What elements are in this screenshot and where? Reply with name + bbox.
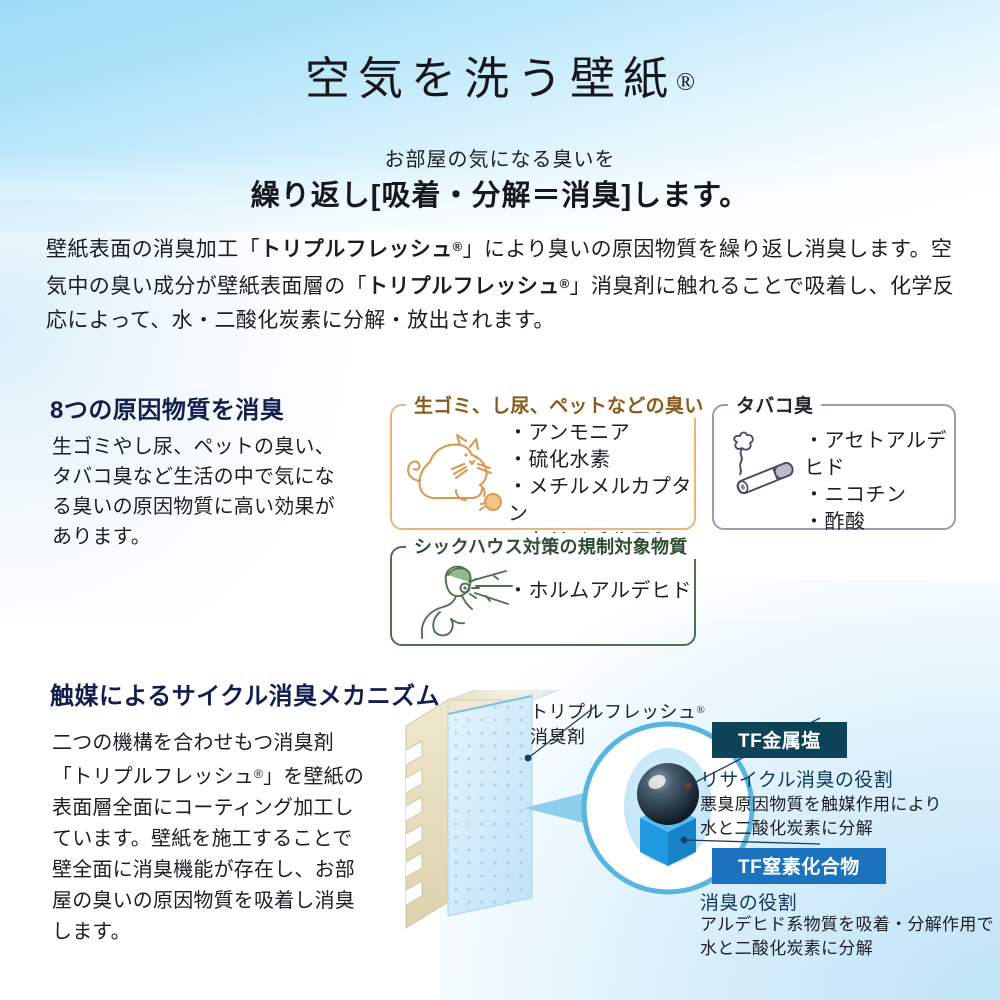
odor-box-sickhouse: シックハウス対策の規制対象物質 ・ホルムアルデヒド: [390, 546, 696, 646]
odor-section-body: 生ゴミやし尿、ペットの臭い、タバコ臭など生活の中で気になる臭いの原因物質に高い効…: [52, 432, 352, 552]
odor-box-waste-legend: 生ゴミ、し尿、ペットなどの臭い: [406, 391, 712, 418]
cigarette-icon: [724, 426, 806, 500]
subtitle-line-1: お部屋の気になる臭いを: [0, 143, 1000, 172]
callout-nitrogen-body: アルデヒド系物質を吸着・分解作用で 水と二酸化炭素に分解: [700, 913, 994, 961]
diagram-label-triplefresh: トリプルフレッシュ® 消臭剤: [530, 698, 705, 750]
infographic-page: 空気を洗う壁紙® お部屋の気になる臭いを 繰り返し[吸着・分解＝消臭]します。 …: [0, 0, 1000, 1000]
callout-metal-body: 悪臭原因物質を触媒作用により 水と二酸化炭素に分解: [700, 793, 942, 841]
callout-metal-body-line1: 悪臭原因物質を触媒作用により: [700, 793, 942, 817]
mechanism-section-body: 二つの機構を合わせもつ消臭剤「トリプルフレッシュ®」を壁紙の表面層全面にコーティ…: [52, 728, 370, 948]
registered-mark: ®: [676, 69, 695, 96]
callout-metal-body-line2: 水と二酸化炭素に分解: [700, 817, 942, 841]
subtitle-line-2: 繰り返し[吸着・分解＝消臭]します。: [0, 172, 1000, 214]
odor-box-tobacco-list: ・アセトアルデヒド ・ニコチン ・酢酸: [804, 428, 954, 536]
odor-box-waste: 生ゴミ、し尿、ペットなどの臭い ・アンモニア: [390, 404, 696, 530]
coughing-person-icon: [410, 562, 520, 640]
callout-nitrogen-body-line1: アルデヒド系物質を吸着・分解作用で: [700, 913, 994, 937]
list-item: ・硫化水素: [508, 447, 694, 474]
mechanism-text-2: 」を壁紙の表面層全面にコーティング加工しています。壁紙を施工することで壁全面に消…: [52, 766, 364, 943]
list-item: ・メチルメルカプタン: [508, 474, 694, 528]
badge-tf-metal-salt: TF金属塩: [712, 722, 847, 758]
diagram-label-registered-mark: ®: [697, 704, 706, 716]
intro-text-1: 壁紙表面の消臭加工「: [46, 238, 260, 261]
list-item: ・酢酸: [804, 509, 954, 536]
list-item: ・アンモニア: [508, 420, 694, 447]
page-title-text: 空気を洗う壁紙: [305, 54, 676, 104]
brand-registered-mark-2: ®: [560, 276, 570, 291]
callout-nitrogen-lead: 消臭の役割: [700, 888, 797, 915]
brand-name-2: トリプルフレッシュ: [367, 275, 560, 298]
intro-paragraph: 壁紙表面の消臭加工「トリプルフレッシュ®」により臭いの原因物質を繰り返し消臭しま…: [46, 230, 956, 338]
odor-section-heading: 8つの原因物質を消臭: [50, 390, 284, 425]
odor-box-sickhouse-legend: シックハウス対策の規制対象物質: [406, 533, 696, 559]
page-title: 空気を洗う壁紙®: [0, 42, 1000, 107]
callout-metal-lead: リサイクル消臭の役割: [700, 765, 893, 792]
list-item: ・アセトアルデヒド: [804, 428, 954, 482]
list-item: ・ニコチン: [804, 482, 954, 509]
mechanism-registered-mark: ®: [254, 767, 263, 781]
callout-nitrogen-body-line2: 水と二酸化炭素に分解: [700, 937, 994, 961]
diagram-label-brand: トリプルフレッシュ: [530, 702, 697, 722]
odor-box-tobacco: タバコ臭 ・アセトアルデヒド ・ニコチン ・酢酸: [712, 404, 956, 530]
odor-box-tobacco-legend: タバコ臭: [728, 391, 821, 418]
mechanism-brand: トリプルフレッシュ: [72, 766, 254, 788]
cat-playing-icon: [400, 428, 508, 514]
diagram-label-deodorizer: 消臭剤: [530, 727, 586, 747]
brand-name-1: トリプルフレッシュ: [260, 238, 453, 261]
mechanism-section-heading: 触媒によるサイクル消臭メカニズム: [50, 676, 440, 711]
odor-box-sickhouse-list: ・ホルムアルデヒド: [508, 578, 692, 605]
list-item: ・ホルムアルデヒド: [508, 578, 692, 605]
brand-registered-mark-1: ®: [453, 239, 463, 254]
badge-tf-nitrogen-compound: TF窒素化合物: [712, 848, 886, 884]
